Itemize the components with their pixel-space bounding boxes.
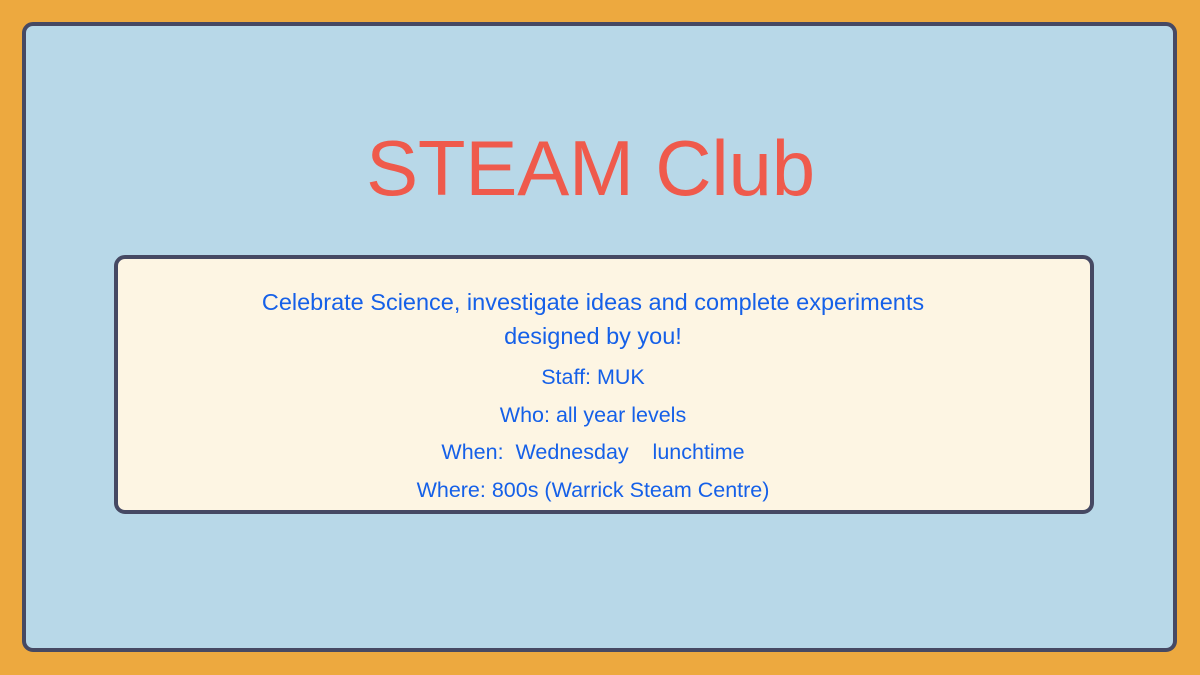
intro-line-2: designed by you! <box>118 319 1090 353</box>
details-card: Celebrate Science, investigate ideas and… <box>114 255 1094 514</box>
detail-when: When: Wednesday lunchtime <box>118 434 1090 472</box>
detail-who: Who: all year levels <box>118 397 1090 435</box>
intro-line-1: Celebrate Science, investigate ideas and… <box>118 285 1090 319</box>
detail-staff: Staff: MUK <box>118 359 1090 397</box>
slide-canvas: STEAM Club Celebrate Science, investigat… <box>0 0 1200 675</box>
details-card-body: Celebrate Science, investigate ideas and… <box>118 259 1090 509</box>
slide-panel: STEAM Club Celebrate Science, investigat… <box>22 22 1177 652</box>
detail-where: Where: 800s (Warrick Steam Centre) <box>118 472 1090 510</box>
page-title: STEAM Club <box>26 122 1181 214</box>
